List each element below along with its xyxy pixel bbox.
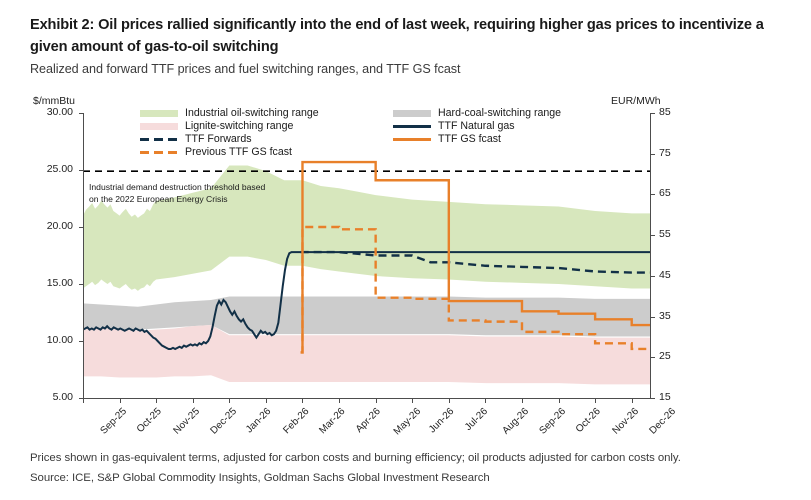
x-tick — [595, 399, 596, 403]
x-axis-label: Aug-26 — [501, 406, 532, 437]
source-text: Source: ICE, S&P Global Commodity Insigh… — [30, 472, 790, 484]
y-axis-right-label: 85 — [659, 106, 671, 118]
x-tick — [156, 399, 157, 403]
y-axis-right-label: 55 — [659, 228, 671, 240]
legend-label: Hard-coal-switching range — [438, 106, 561, 120]
x-axis-label: Mar-26 — [318, 406, 348, 436]
y-tick-left — [79, 170, 83, 171]
legend-label: Previous TTF GS fcast — [185, 145, 292, 159]
y-tick-right — [651, 194, 655, 195]
x-axis-label: Apr-26 — [354, 406, 383, 435]
y-axis-right — [650, 113, 651, 399]
y-axis-right-label: 25 — [659, 350, 671, 362]
y-tick-right — [651, 235, 655, 236]
chart-subtitle: Realized and forward TTF prices and fuel… — [30, 62, 730, 76]
y-tick-left — [79, 284, 83, 285]
legend-swatch-icon — [140, 110, 178, 117]
legend-label: Industrial oil-switching range — [185, 106, 319, 120]
x-tick — [449, 399, 450, 403]
x-tick — [302, 399, 303, 403]
y-axis-right-label: 15 — [659, 391, 671, 403]
y-axis-left — [83, 113, 84, 399]
legend-line-icon — [393, 138, 431, 141]
y-tick-right — [651, 276, 655, 277]
x-axis-label: Nov-26 — [611, 406, 642, 437]
x-axis-label: Dec-25 — [208, 406, 239, 437]
chart-figure: Exhibit 2: Oil prices rallied significan… — [0, 0, 811, 500]
y-tick-left — [79, 113, 83, 114]
y-axis-left-label: 5.00 — [13, 391, 73, 403]
legend-line-icon — [393, 125, 431, 128]
threshold-annotation-line1: Industrial demand destruction threshold … — [89, 182, 265, 192]
x-axis-label: May-26 — [391, 406, 422, 437]
y-tick-right — [651, 113, 655, 114]
plot-area — [83, 113, 650, 398]
x-tick — [522, 399, 523, 403]
x-axis-label: Nov-25 — [172, 406, 203, 437]
legend-dashed-line-icon — [140, 138, 178, 141]
x-axis-label: Dec-26 — [647, 406, 678, 437]
y-axis-right-label: 45 — [659, 269, 671, 281]
footnote-text: Prices shown in gas-equivalent terms, ad… — [30, 452, 790, 464]
threshold-annotation: Industrial demand destruction threshold … — [89, 182, 304, 206]
legend-label: TTF GS fcast — [438, 132, 501, 146]
threshold-annotation-line2: on the 2022 European Energy Crisis — [89, 194, 228, 204]
x-axis-label: Jan-26 — [244, 406, 273, 435]
y-axis-left-label: 20.00 — [13, 220, 73, 232]
x-tick — [266, 399, 267, 403]
y-tick-right — [651, 398, 655, 399]
x-tick — [412, 399, 413, 403]
x-tick — [120, 399, 121, 403]
y-axis-left-label: 10.00 — [13, 334, 73, 346]
legend-label: Lignite-switching range — [185, 119, 293, 133]
x-axis-label: Oct-26 — [573, 406, 602, 435]
x-axis — [83, 398, 651, 399]
plot-svg — [83, 113, 650, 398]
x-tick — [376, 399, 377, 403]
legend-swatch-icon — [393, 110, 431, 117]
y-axis-right-label: 75 — [659, 147, 671, 159]
x-axis-label: Sep-26 — [537, 406, 568, 437]
y-tick-right — [651, 357, 655, 358]
x-axis-label: Jul-26 — [463, 406, 490, 433]
y-tick-right — [651, 317, 655, 318]
page-title: Exhibit 2: Oil prices rallied significan… — [30, 14, 790, 58]
x-tick — [339, 399, 340, 403]
y-tick-left — [79, 341, 83, 342]
legend-label: TTF Forwards — [185, 132, 252, 146]
y-tick-left — [79, 227, 83, 228]
x-axis-label: Sep-25 — [98, 406, 129, 437]
x-tick — [229, 399, 230, 403]
legend-dashed-line-icon — [140, 151, 178, 154]
x-axis-label: Jun-26 — [427, 406, 456, 435]
y-axis-left-label: 15.00 — [13, 277, 73, 289]
y-tick-right — [651, 154, 655, 155]
y-axis-left-label: 30.00 — [13, 106, 73, 118]
y-axis-right-label: 65 — [659, 187, 671, 199]
y-axis-right-label: 35 — [659, 310, 671, 322]
x-axis-label: Oct-25 — [134, 406, 163, 435]
legend-label: TTF Natural gas — [438, 119, 515, 133]
x-axis-label: Feb-26 — [281, 406, 311, 436]
legend-swatch-icon — [140, 123, 178, 130]
x-tick — [632, 399, 633, 403]
x-tick — [193, 399, 194, 403]
right-axis-unit-label: EUR/MWh — [611, 95, 661, 107]
x-tick — [559, 399, 560, 403]
x-tick — [83, 399, 84, 403]
y-axis-left-label: 25.00 — [13, 163, 73, 175]
x-tick — [485, 399, 486, 403]
